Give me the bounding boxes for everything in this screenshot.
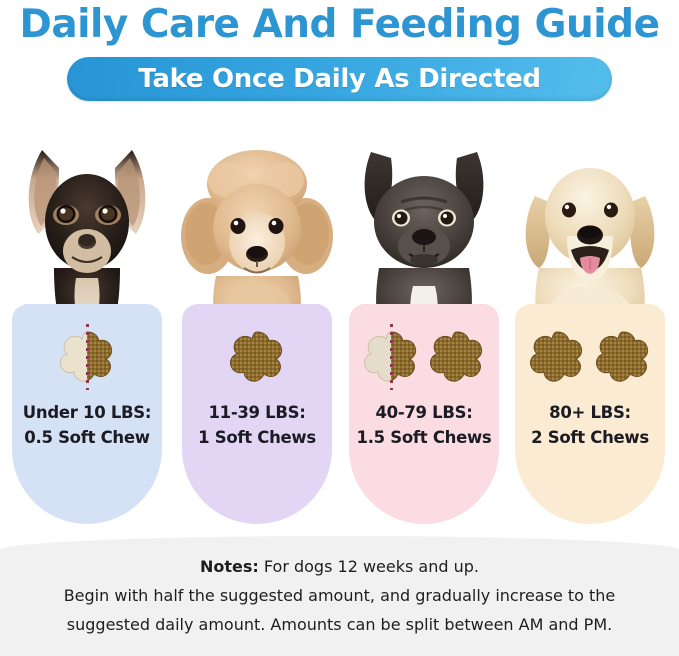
notes-line-3: suggested daily amount. Amounts can be s… — [0, 610, 679, 639]
dosage-label-2: 11-39 LBS: 1 Soft Chews — [182, 400, 332, 450]
weight-range-1: Under 10 LBS: — [23, 403, 151, 422]
notes-panel: Notes: For dogs 12 weeks and up. Begin w… — [0, 536, 679, 656]
half-chew-unit — [362, 324, 420, 390]
soft-chew-icon — [528, 330, 586, 384]
chew-graphic-1 — [12, 322, 162, 392]
dosage-card-4: 80+ LBS: 2 Soft Chews — [515, 304, 665, 524]
full-chew-unit — [594, 324, 652, 390]
dosage-column-4: 80+ LBS: 2 Soft Chews — [505, 118, 675, 538]
notes-text: Notes: For dogs 12 weeks and up. Begin w… — [0, 552, 679, 639]
half-chew-unit — [58, 324, 116, 390]
dose-amount-4: 2 Soft Chews — [515, 425, 665, 450]
notes-line-1-rest: For dogs 12 weeks and up. — [259, 557, 479, 576]
french-bulldog-photo — [339, 118, 509, 333]
dosage-card-3: 40-79 LBS: 1.5 Soft Chews — [349, 304, 499, 524]
chew-split-dotted-line — [390, 324, 393, 390]
poodle-photo — [172, 118, 342, 333]
dose-amount-1: 0.5 Soft Chew — [12, 425, 162, 450]
dosage-column-1: Under 10 LBS: 0.5 Soft Chew — [2, 118, 172, 538]
soft-chew-icon — [594, 330, 652, 384]
soft-chew-icon — [428, 330, 486, 384]
dose-amount-2: 1 Soft Chews — [182, 425, 332, 450]
dosage-card-1: Under 10 LBS: 0.5 Soft Chew — [12, 304, 162, 524]
soft-chew-icon — [228, 330, 286, 384]
dosage-label-3: 40-79 LBS: 1.5 Soft Chews — [349, 400, 499, 450]
subtitle-text: Take Once Daily As Directed — [138, 64, 540, 94]
chew-graphic-4 — [515, 322, 665, 392]
subtitle-banner: Take Once Daily As Directed — [67, 57, 612, 101]
chihuahua-photo — [2, 118, 172, 333]
golden-retriever-photo — [505, 118, 675, 333]
dosage-columns: Under 10 LBS: 0.5 Soft Chew — [0, 118, 679, 538]
notes-line-1: Notes: For dogs 12 weeks and up. — [0, 552, 679, 581]
dosage-column-2: 11-39 LBS: 1 Soft Chews — [172, 118, 342, 538]
dosage-card-2: 11-39 LBS: 1 Soft Chews — [182, 304, 332, 524]
notes-line-2: Begin with half the suggested amount, an… — [0, 581, 679, 610]
dosage-label-1: Under 10 LBS: 0.5 Soft Chew — [12, 400, 162, 450]
chew-graphic-2 — [182, 322, 332, 392]
weight-range-4: 80+ LBS: — [549, 403, 631, 422]
chew-graphic-3 — [349, 322, 499, 392]
dose-amount-3: 1.5 Soft Chews — [349, 425, 499, 450]
weight-range-2: 11-39 LBS: — [208, 403, 305, 422]
full-chew-unit — [428, 324, 486, 390]
page-title: Daily Care And Feeding Guide — [0, 2, 679, 47]
dosage-label-4: 80+ LBS: 2 Soft Chews — [515, 400, 665, 450]
full-chew-unit — [228, 324, 286, 390]
weight-range-3: 40-79 LBS: — [375, 403, 472, 422]
dosage-column-3: 40-79 LBS: 1.5 Soft Chews — [339, 118, 509, 538]
full-chew-unit — [528, 324, 586, 390]
notes-label: Notes: — [200, 557, 259, 576]
feeding-guide-infographic: Daily Care And Feeding Guide Take Once D… — [0, 0, 679, 656]
chew-split-dotted-line — [86, 324, 89, 390]
